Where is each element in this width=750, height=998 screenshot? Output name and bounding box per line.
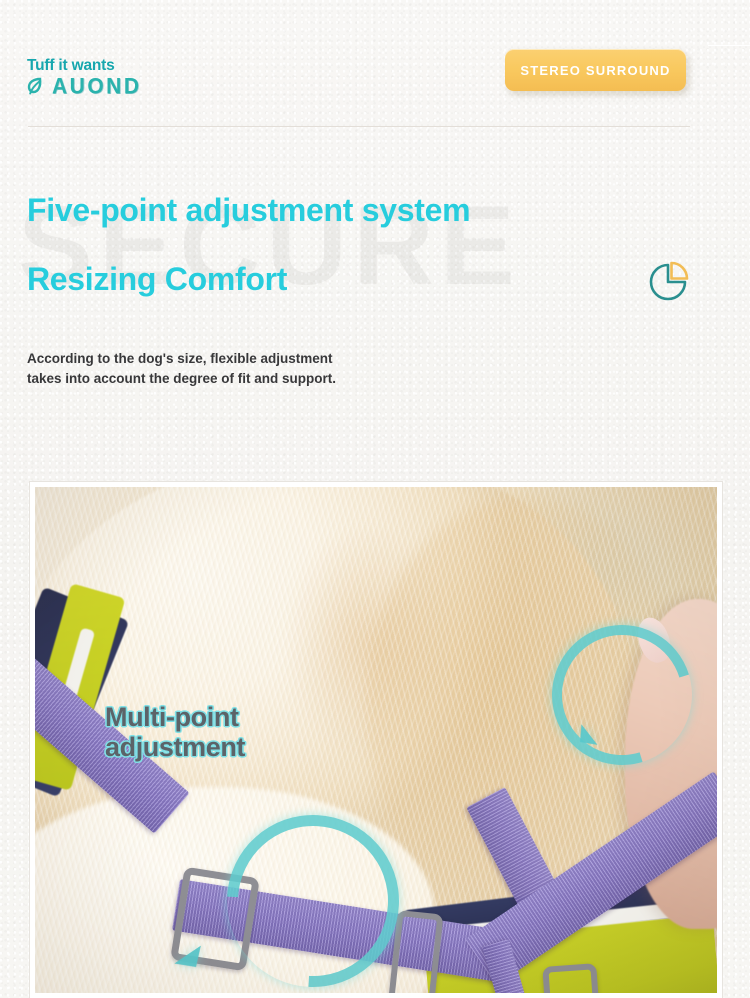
logo-wordmark: AUOND (52, 75, 142, 97)
logo-tagline: Tuff it wants (27, 58, 142, 74)
product-detail-page: Tuff it wants AUOND STEREO SURROUND SECU… (0, 0, 750, 998)
product-photo-card: Multi-point adjustment (30, 482, 722, 998)
stereo-surround-button[interactable]: STEREO SURROUND (505, 49, 686, 91)
hero-body-text: According to the dog's size, flexible ad… (27, 349, 342, 389)
brand-logo[interactable]: Tuff it wants AUOND (27, 58, 142, 97)
header-divider (28, 126, 690, 127)
header-rule-right (708, 45, 750, 46)
hero-heading-primary: Five-point adjustment system (27, 194, 470, 226)
pie-chart-icon (644, 258, 692, 306)
leaf-icon (27, 77, 43, 95)
logo-wordmark-row: AUOND (27, 76, 142, 97)
page-header: Tuff it wants AUOND STEREO SURROUND (0, 0, 750, 130)
harness-slider-buckle-3 (542, 963, 599, 993)
product-photo: Multi-point adjustment (35, 487, 717, 993)
hero-heading-secondary: Resizing Comfort (27, 263, 287, 295)
hero-section: SECURE Five-point adjustment system Resi… (0, 130, 750, 480)
